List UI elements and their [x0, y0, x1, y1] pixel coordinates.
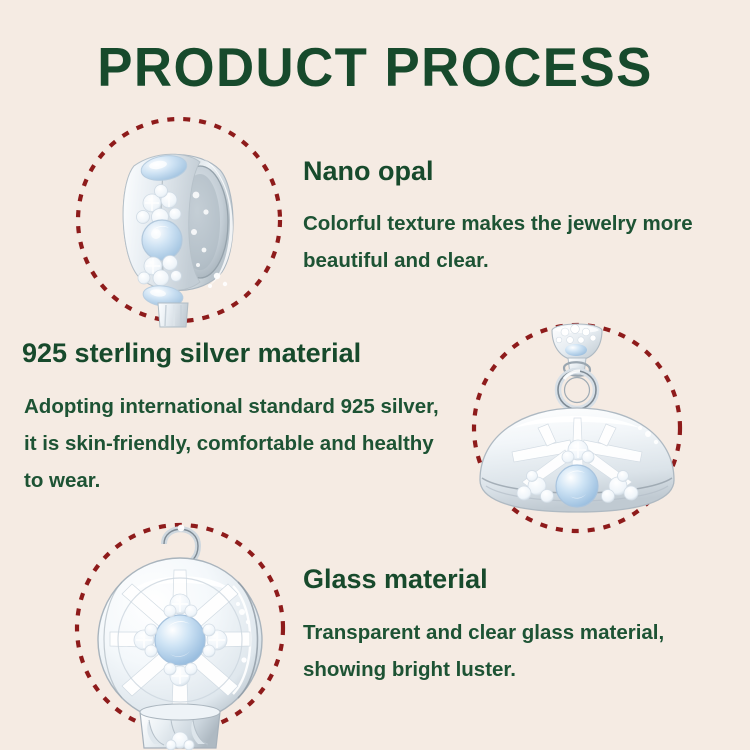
product-image-nano-opal [60, 100, 310, 340]
ring-charm-illustration [123, 153, 233, 327]
glass-globe-charm-illustration [98, 525, 262, 750]
page-title: PRODUCT PROCESS [15, 38, 735, 96]
feature-body-glass-material: Transparent and clear glass material, sh… [303, 614, 723, 688]
opal-stone-center [155, 615, 205, 665]
feature-heading-glass-material: Glass material [303, 563, 488, 595]
product-image-glass-material [52, 500, 312, 750]
feature-body-sterling-silver: Adopting international standard 925 silv… [24, 388, 454, 499]
feature-heading-nano-opal: Nano opal [303, 155, 434, 187]
product-image-sterling-silver [452, 300, 702, 550]
pendant-charm-illustration [480, 324, 674, 512]
charm-post [158, 303, 188, 327]
opal-stone-center [142, 220, 182, 260]
feature-body-nano-opal: Colorful texture makes the jewelry more … [303, 205, 703, 279]
feature-heading-sterling-silver: 925 sterling silver material [22, 337, 361, 369]
infographic-page: PRODUCT PROCESS [0, 0, 750, 750]
